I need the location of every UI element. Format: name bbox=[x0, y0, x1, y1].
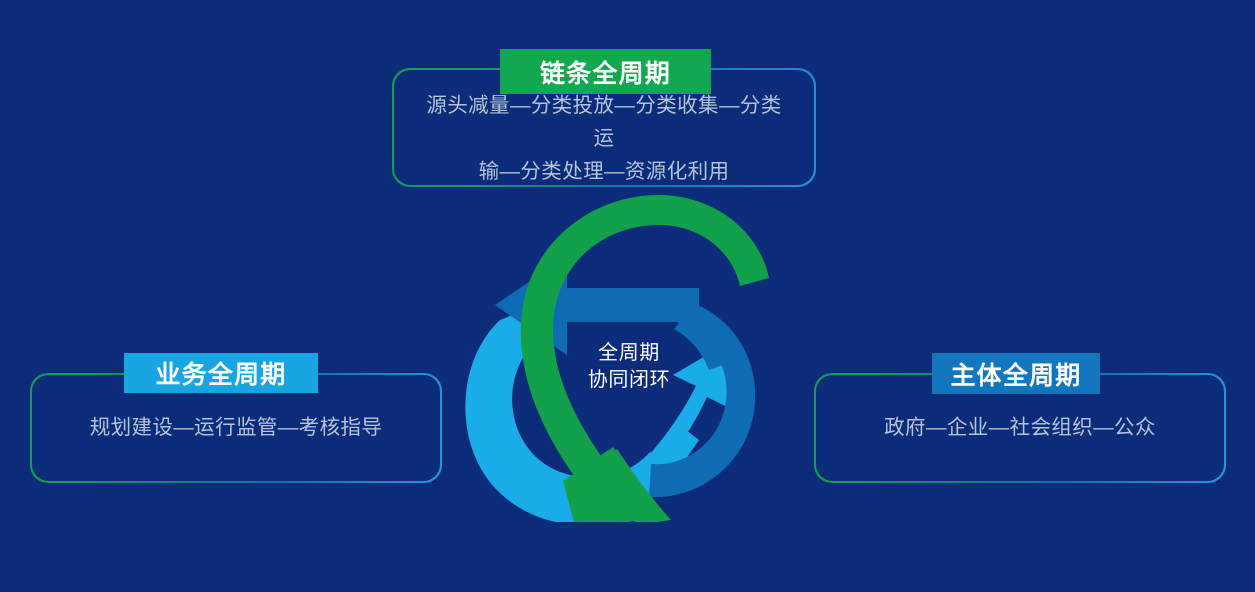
badge-subject-cycle: 主体全周期 bbox=[932, 353, 1100, 394]
card-business-body-text: 规划建设—运行监管—考核指导 bbox=[64, 411, 409, 444]
badge-subject-label: 主体全周期 bbox=[950, 356, 1081, 392]
badge-chain-label: 链条全周期 bbox=[540, 54, 671, 90]
card-subject-body-text: 政府—企业—社会组织—公众 bbox=[858, 411, 1182, 444]
badge-business-label: 业务全周期 bbox=[155, 355, 286, 391]
center-label: 全周期 协同闭环 bbox=[565, 340, 693, 393]
badge-business-cycle: 业务全周期 bbox=[124, 353, 318, 393]
diagram-canvas: 源头减量—分类投放—分类收集—分类运 输—分类处理—资源化利用 链条全周期 规划… bbox=[0, 0, 1255, 592]
badge-chain-cycle: 链条全周期 bbox=[500, 49, 711, 94]
